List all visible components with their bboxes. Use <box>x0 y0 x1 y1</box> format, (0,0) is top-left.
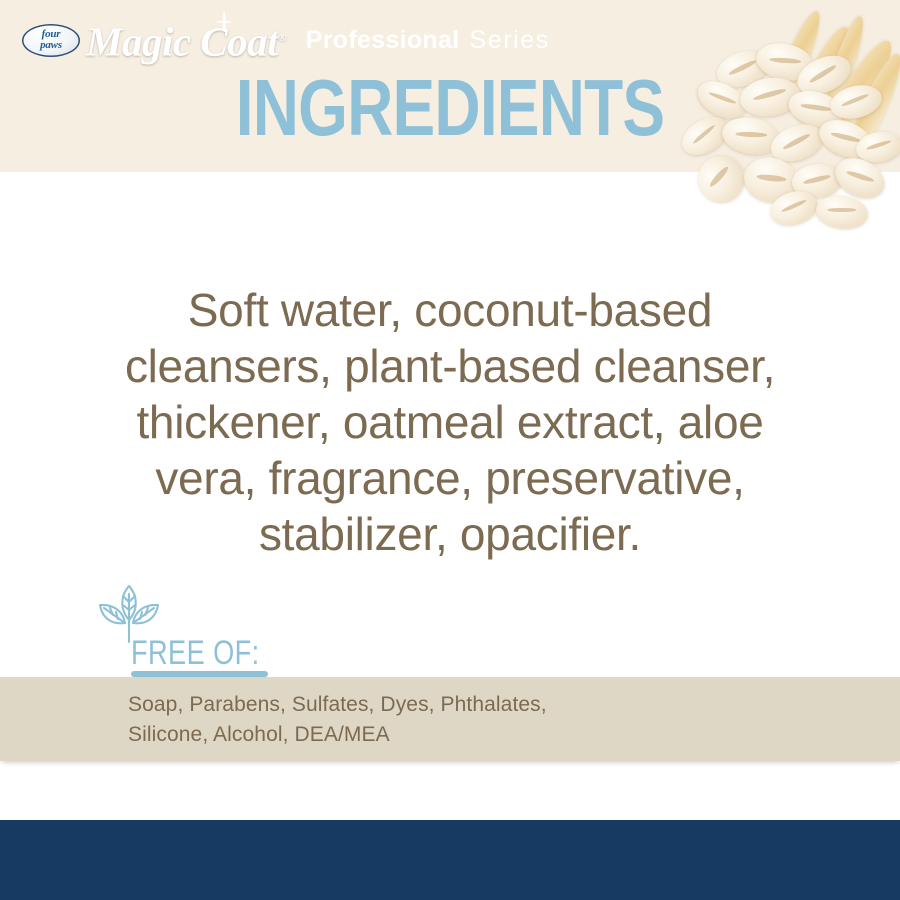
free-of-label: FREE OF: <box>131 636 260 670</box>
professional-series-tagline: Professional Series <box>306 26 550 55</box>
tagline-series: Series <box>469 26 549 55</box>
free-of-line: Soap, Parabens, Sulfates, Dyes, Phthalat… <box>128 690 828 720</box>
ingredients-line: Soft water, coconut-based <box>60 282 840 338</box>
ingredients-line: vera, fragrance, preservative, <box>60 450 840 506</box>
registered-trademark-icon: ® <box>278 32 286 44</box>
free-of-line: Silicone, Alcohol, DEA/MEA <box>128 720 828 750</box>
ingredients-line: thickener, oatmeal extract, aloe <box>60 394 840 450</box>
ingredients-text: Soft water, coconut-based cleansers, pla… <box>60 282 840 562</box>
magic-coat-wordmark: Magic Coat® <box>86 16 286 64</box>
oat-flakes-photo <box>670 0 900 250</box>
footer-brand-bar <box>0 820 900 900</box>
four-paws-badge-line2: paws <box>40 40 62 51</box>
magic-coat-text: Magic Coat <box>86 19 278 65</box>
ingredients-line: cleansers, plant-based cleanser, <box>60 338 840 394</box>
ingredients-line: stabilizer, opacifier. <box>60 506 840 562</box>
four-paws-badge-icon: four paws <box>22 24 80 57</box>
tagline-professional: Professional <box>306 26 460 55</box>
ingredients-panel: INGREDIENTS Soft water, coconut-based <box>0 0 900 900</box>
free-of-list: Soap, Parabens, Sulfates, Dyes, Phthalat… <box>128 690 828 750</box>
footer-logo-group: four paws Magic Coat® Professional Serie… <box>22 0 550 80</box>
